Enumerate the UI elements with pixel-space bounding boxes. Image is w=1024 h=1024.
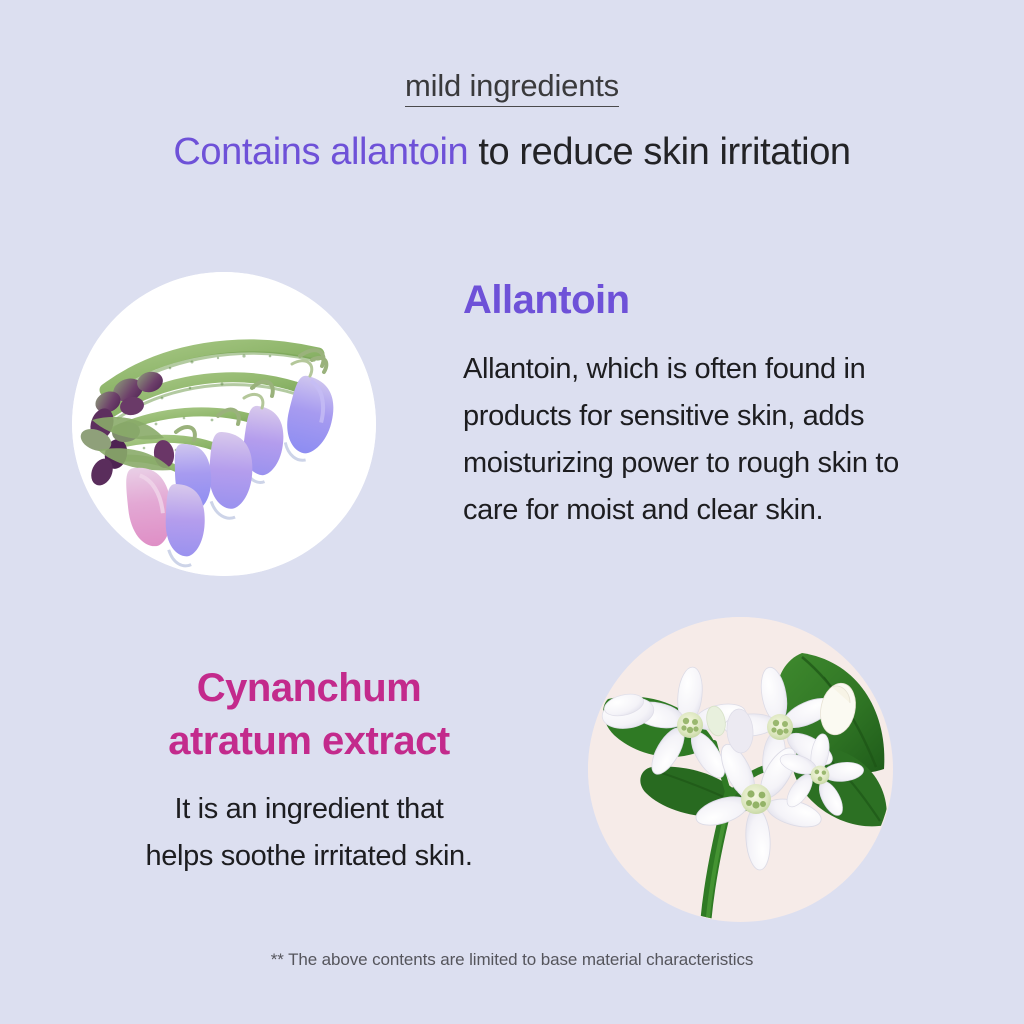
headline-accent-text: Contains allantoin xyxy=(173,131,468,173)
allantoin-heading: Allantoin xyxy=(463,278,949,322)
allantoin-text-block: Allantoin Allantoin, which is often foun… xyxy=(463,278,949,534)
cynanchum-heading-line2: atratum extract xyxy=(60,715,558,768)
cynanchum-flower-photo xyxy=(588,617,893,922)
cynanchum-text-block: Cynanchum atratum extract It is an ingre… xyxy=(60,662,558,880)
page-title: Contains allantoin to reduce skin irrita… xyxy=(0,131,1024,174)
allantoin-body: Allantoin, which is often found in produ… xyxy=(463,346,949,534)
headline-rest-text: to reduce skin irritation xyxy=(468,131,850,173)
cynanchum-heading: Cynanchum atratum extract xyxy=(60,662,558,768)
allantoin-image-circle xyxy=(72,272,376,576)
cynanchum-heading-line1: Cynanchum xyxy=(60,662,558,715)
eyebrow-label: mild ingredients xyxy=(0,68,1024,104)
comfrey-flower-photo xyxy=(72,272,376,576)
cynanchum-image-circle xyxy=(588,617,893,922)
cynanchum-body-line1: It is an ingredient that xyxy=(60,786,558,833)
promo-page: mild ingredients Contains allantoin to r… xyxy=(0,0,1024,1024)
footnote: ** The above contents are limited to bas… xyxy=(0,950,1024,970)
cynanchum-body: It is an ingredient that helps soothe ir… xyxy=(60,786,558,880)
cynanchum-body-line2: helps soothe irritated skin. xyxy=(60,833,558,880)
eyebrow-text: mild ingredients xyxy=(405,68,619,107)
